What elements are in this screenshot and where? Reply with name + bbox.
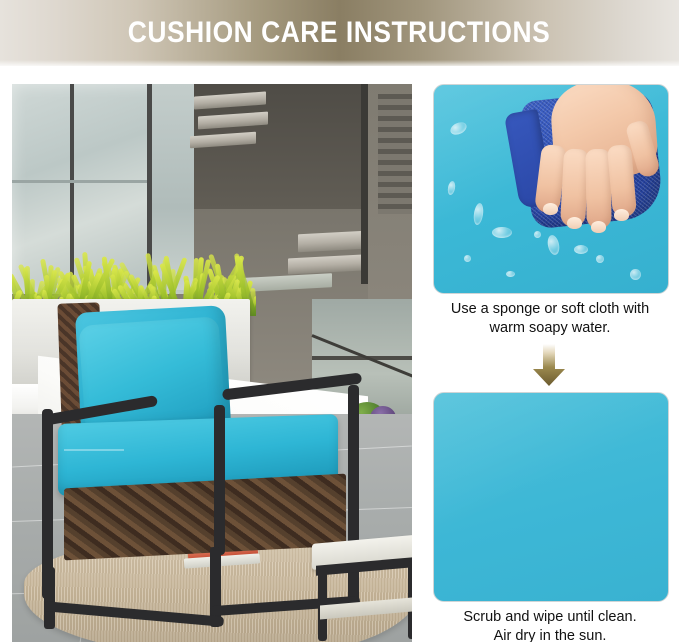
water-droplet [574, 245, 588, 254]
window-frame-post [361, 84, 368, 284]
throw-pillow [78, 316, 225, 434]
care-steps-column: Use a sponge or soft cloth with warm soa… [433, 84, 667, 642]
water-droplet [464, 255, 471, 262]
header-fade-divider [0, 60, 679, 70]
water-droplet [492, 227, 512, 238]
chair-arm-post-inner [214, 405, 225, 555]
louver-screen [378, 94, 412, 214]
chair-armrest-right [222, 373, 362, 401]
chair-base-rail [44, 601, 224, 627]
panel-sheen [434, 393, 668, 601]
step-one-caption-line-2: warm soapy water. [433, 319, 667, 338]
product-lifestyle-photo: EASY TO CLEAN [12, 84, 412, 642]
fingernail [591, 221, 606, 233]
water-droplet [534, 231, 541, 238]
fingernail [567, 217, 582, 229]
infographic-page: CUSHION CARE INSTRUCTIONS [0, 0, 679, 642]
fingernail [543, 203, 558, 215]
page-header-banner: CUSHION CARE INSTRUCTIONS [0, 0, 679, 66]
arrow-down-icon [526, 342, 572, 388]
chair-wicker-base [64, 474, 346, 561]
step-one-image [433, 84, 669, 294]
water-droplet [506, 271, 515, 277]
chair-leg [44, 567, 55, 629]
water-droplet [596, 255, 604, 263]
step-one-caption-line-1: Use a sponge or soft cloth with [433, 300, 667, 319]
water-droplet [630, 269, 641, 280]
seat-cushion-seam [64, 449, 124, 451]
step-two-caption-line-2: Air dry in the sun. [433, 627, 667, 642]
side-table [312, 539, 412, 642]
step-two-caption: Scrub and wipe until clean. Air dry in t… [433, 608, 667, 642]
step-two-caption-line-1: Scrub and wipe until clean. [433, 608, 667, 627]
step-two-image [433, 392, 669, 602]
step-one-caption: Use a sponge or soft cloth with warm soa… [433, 300, 667, 338]
fingernail [614, 209, 629, 221]
page-title: CUSHION CARE INSTRUCTIONS [128, 16, 550, 50]
table-lower-shelf [320, 596, 412, 619]
